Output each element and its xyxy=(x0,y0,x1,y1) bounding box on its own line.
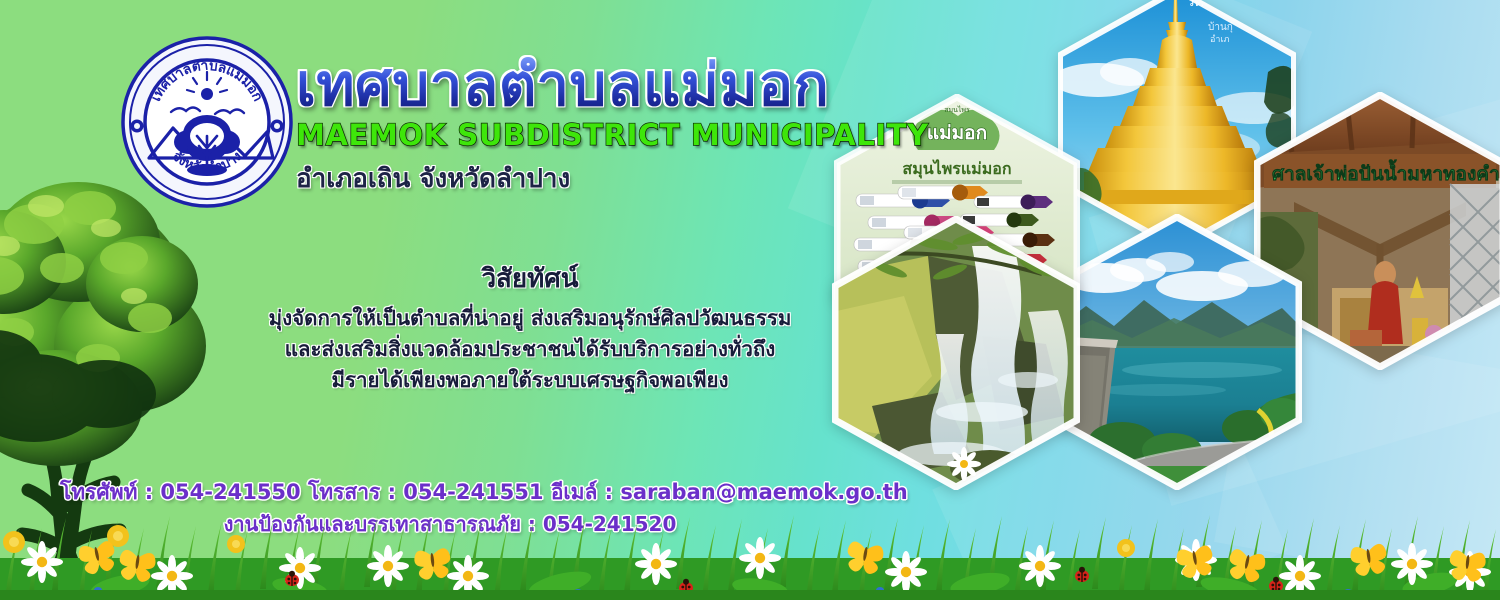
vision-line-1: มุ่งจัดการให้เป็นตำบลที่น่าอยู่ ส่งเสริม… xyxy=(230,303,830,334)
vision-heading: วิสัยทัศน์ xyxy=(230,258,830,299)
pagoda-overlay-sub: บ้านกุ่ xyxy=(1208,21,1233,33)
page-title-english: MAEMOK SUBDISTRICT MUNICIPALITY xyxy=(296,118,936,152)
municipal-seal-logo: เทศบาลตำบลแม่มอก จังหวัดลำปาง xyxy=(121,36,293,208)
header-title-block: เทศบาลตำบลแม่มอก MAEMOK SUBDISTRICT MUNI… xyxy=(296,55,936,199)
hexagon-reservoir-dam[interactable] xyxy=(1052,214,1302,490)
vision-line-2: และส่งเสริมสิ่งแวดล้อมประชาชนได้รับบริกา… xyxy=(230,334,830,365)
herbal-logo-sub: สมุนไพร xyxy=(944,105,970,114)
page-subtitle: อำเภอเถิน จังหวัดลำปาง xyxy=(296,158,936,199)
shrine-overlay-text: ศาลเจ้าพ่อปันน้ำมหาทองคำ xyxy=(1272,159,1500,185)
vision-statement: วิสัยทัศน์ มุ่งจัดการให้เป็นตำบลที่น่าอย… xyxy=(230,258,830,395)
contact-line-primary[interactable]: โทรศัพท์ : 054-241550 โทรสาร : 054-24155… xyxy=(60,476,840,509)
page-title-thai: เทศบาลตำบลแม่มอก xyxy=(296,55,936,116)
hexagon-waterfall[interactable] xyxy=(832,216,1080,490)
vision-line-3: มีรายได้เพียงพอภายใต้ระบบเศรษฐกิจพอเพียง xyxy=(230,365,830,396)
yellow-flowers xyxy=(3,525,1135,557)
municipality-banner: วัดพ บ้านกุ่ อำเภ xyxy=(0,0,1500,600)
grass-flower-border xyxy=(0,514,1500,600)
pagoda-overlay-sub2: อำเภ xyxy=(1210,34,1230,45)
